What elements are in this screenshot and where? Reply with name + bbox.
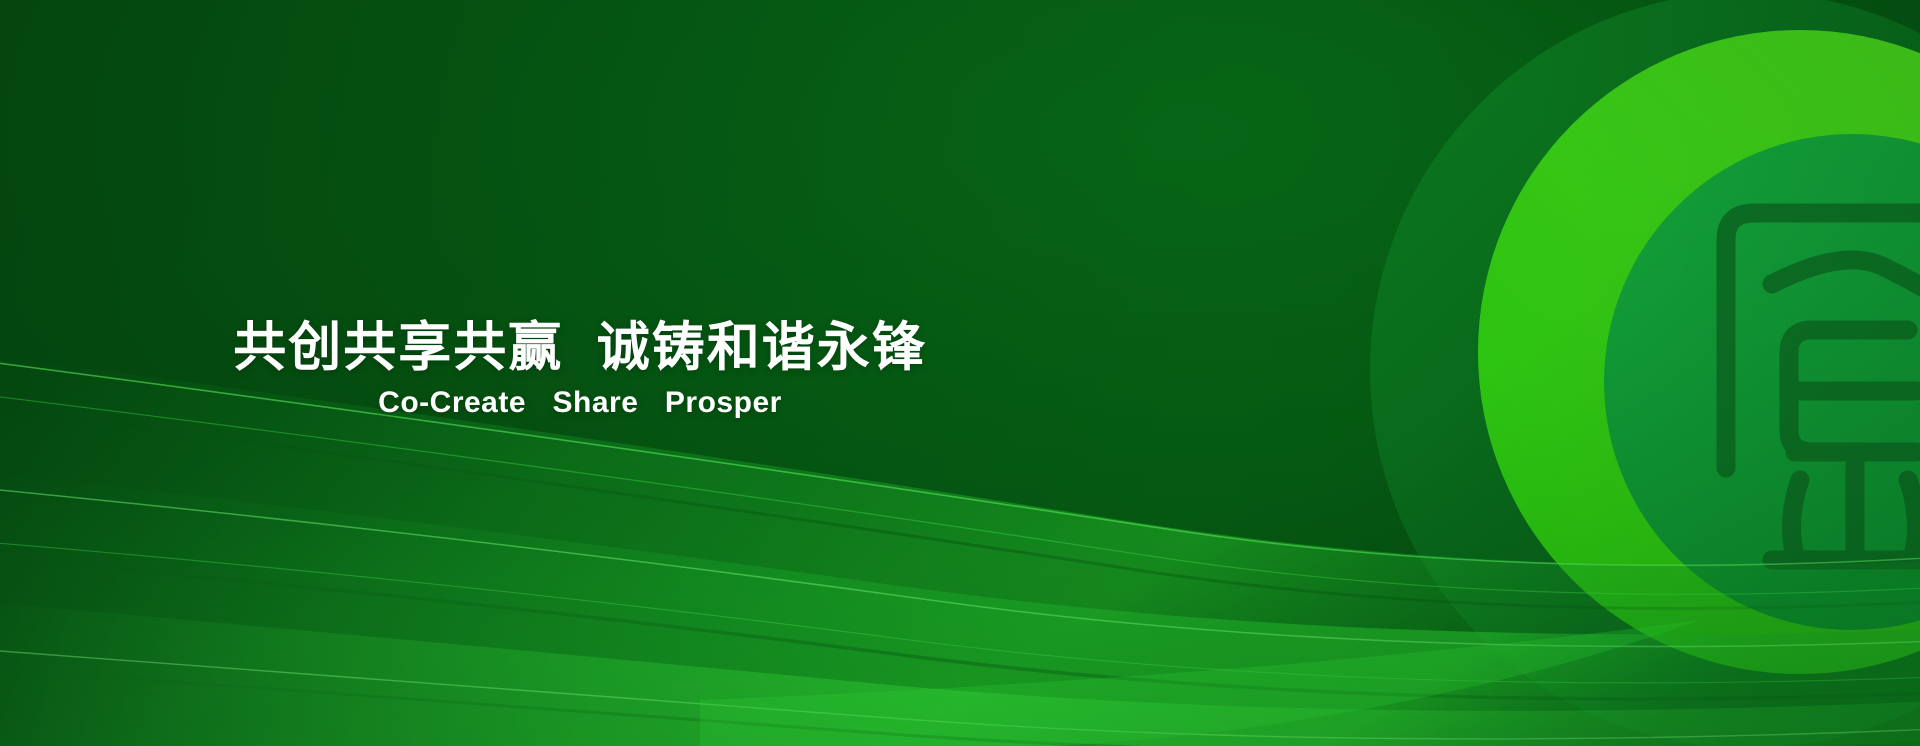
- banner-headline-chinese: 共创共享共赢 诚铸和谐永锋: [0, 318, 1160, 377]
- banner-subline-english: Co-Create Share Prosper: [0, 386, 1160, 419]
- banner-root: 共创共享共赢 诚铸和谐永锋 Co-Create Share Prosper: [0, 0, 1920, 746]
- banner-text-block: 共创共享共赢 诚铸和谐永锋 Co-Create Share Prosper: [0, 318, 1160, 419]
